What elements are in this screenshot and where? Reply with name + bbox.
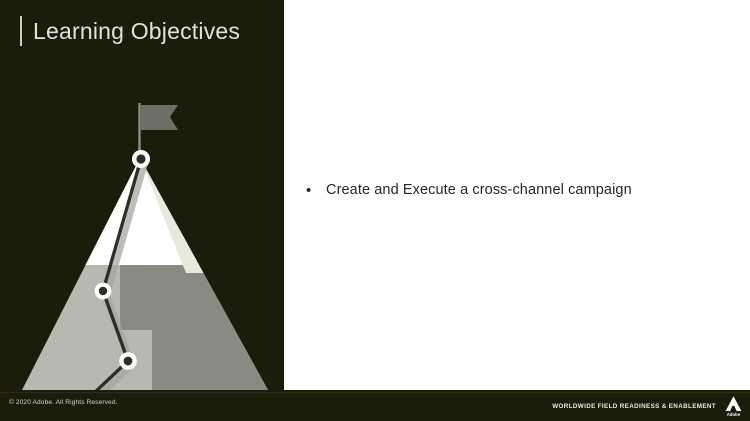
slide-footer: © 2020 Adobe. All Rights Reserved. WORLD…	[0, 390, 750, 421]
mountain-body	[22, 158, 283, 391]
footer-tagline-text: WORLDWIDE FIELD READINESS & ENABLEMENT	[552, 403, 716, 410]
waypoint-marker-lower	[119, 352, 137, 370]
slide-canvas: Learning Objectives	[0, 0, 750, 421]
mountain-illustration	[0, 95, 283, 391]
footer-divider	[0, 392, 750, 393]
adobe-logo: Adobe	[722, 394, 745, 418]
title-accent-rule	[20, 16, 22, 46]
copyright-text: © 2020 Adobe. All Rights Reserved.	[9, 399, 118, 406]
waypoint-marker-middle	[95, 283, 112, 300]
page-title-text: Learning Objectives	[33, 20, 240, 43]
page-title: Learning Objectives	[20, 14, 240, 48]
footer-branding: WORLDWIDE FIELD READINESS & ENABLEMENT A…	[552, 394, 745, 418]
objective-text: Create and Execute a cross-channel campa…	[326, 180, 632, 201]
bullet-point-icon: •	[302, 180, 326, 201]
content-panel: • Create and Execute a cross-channel cam…	[284, 0, 750, 390]
adobe-a-icon	[724, 395, 743, 412]
waypoint-marker-summit	[132, 150, 150, 168]
adobe-wordmark: Adobe	[727, 412, 741, 417]
list-item: • Create and Execute a cross-channel cam…	[302, 180, 732, 201]
flag-banner	[141, 105, 178, 130]
left-title-panel: Learning Objectives	[0, 0, 283, 421]
